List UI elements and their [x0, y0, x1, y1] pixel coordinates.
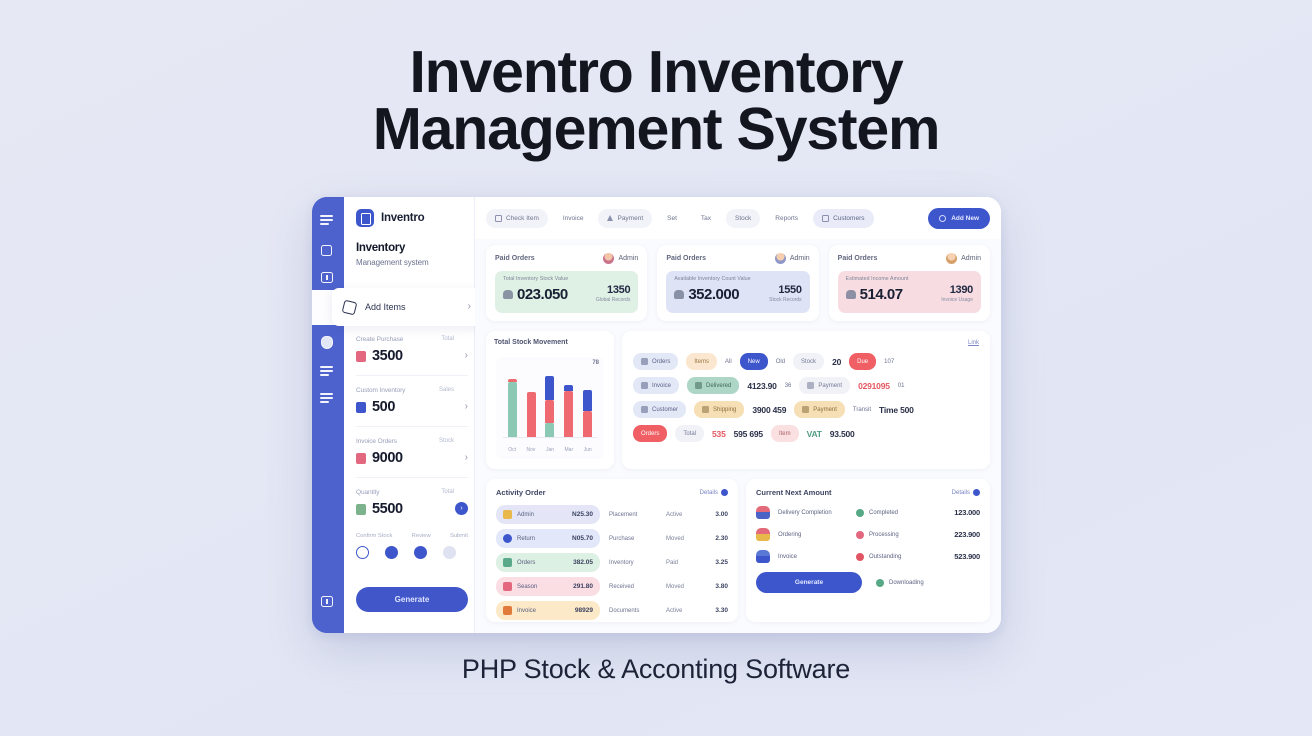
sidebar-stat-row[interactable]: Create Purchase Total 3500 › — [356, 334, 468, 376]
activity-col4: 2.30 — [715, 535, 728, 542]
step-label: Confirm Stock — [356, 533, 392, 539]
stat-card[interactable]: Paid Orders Admin Estimated Income Amoun… — [829, 245, 990, 321]
blue-icon — [503, 534, 512, 543]
plus-icon — [939, 215, 946, 222]
cell-text: All — [725, 359, 732, 365]
chart-bar-segment — [564, 385, 573, 391]
stat-subtitle: Total Inventory Stock Value — [503, 276, 630, 282]
chip-label: Items — [694, 359, 709, 365]
top-navbar: Check Item Invoice Payment Set Tax Stock… — [475, 197, 1001, 239]
nav-chip-label: Tax — [701, 215, 711, 222]
row-icon — [356, 402, 366, 413]
card-title: Current Next Amount — [756, 488, 832, 497]
stat-side-number: 1390 — [941, 284, 973, 296]
brand-name: Inventro — [381, 212, 424, 224]
data-chip[interactable]: Payment — [799, 377, 850, 394]
chevron-icon — [973, 489, 980, 496]
activity-amount: 98929 — [575, 607, 593, 614]
status-label: Outstanding — [869, 554, 901, 560]
chart-bar-group — [508, 373, 517, 437]
avatar — [756, 506, 770, 519]
stat-title: Paid Orders — [838, 255, 878, 262]
stat-side-number: 1550 — [769, 284, 802, 296]
stat-side-label: Stock Records — [769, 297, 802, 303]
sidebar-subtitle: Management system — [356, 258, 429, 267]
chip-label: Payment — [818, 383, 842, 389]
chart-bar — [508, 379, 517, 437]
list-icon[interactable] — [320, 364, 336, 378]
activity-row[interactable]: Season291.80ReceivedMoved3.80 — [496, 577, 728, 596]
row-caption: Quantity — [356, 489, 379, 496]
chart-x-label: Mar — [565, 447, 574, 453]
step-label: Review — [412, 533, 431, 539]
nav-chip-customers[interactable]: Customers — [813, 209, 873, 228]
nav-chip-label: Check Item — [506, 215, 539, 222]
data-chip[interactable]: Orders — [633, 353, 678, 370]
activity-name: Admin — [517, 512, 534, 518]
avatar — [775, 253, 786, 264]
status-icon — [876, 579, 884, 587]
add-items-label: Add Items — [365, 302, 406, 312]
sidebar-stat-row[interactable]: Invoice Orders Stock 9000 › — [356, 436, 468, 478]
cell-number: 595 695 — [734, 429, 763, 439]
stat-value-box: Total Inventory Stock Value 023.050 1350… — [495, 271, 638, 313]
activity-col2: Placement — [600, 512, 666, 518]
amount-row[interactable]: Delivery CompletionCompleted123.000 — [756, 506, 980, 519]
stat-title: Paid Orders — [495, 255, 535, 262]
chips-row: CustomerShipping3900 459PaymentTransitTi… — [633, 401, 979, 418]
activity-rows: AdminN25.30PlacementActive3.00ReturnN05.… — [496, 505, 728, 620]
row-caption: Custom Inventory — [356, 387, 405, 394]
amount-name: Delivery Completion — [778, 510, 856, 516]
activity-name: Invoice — [517, 608, 536, 614]
chart-bar-segment — [545, 376, 554, 400]
activity-row[interactable]: ReturnN05.70PurchaseMoved2.30 — [496, 529, 728, 548]
card-link[interactable]: Details — [700, 489, 728, 496]
cell-text: 107 — [884, 359, 894, 365]
chart-bar — [564, 385, 573, 437]
step-dot[interactable] — [385, 546, 398, 559]
chevron-icon — [721, 489, 728, 496]
chart-x-labels: OctNovJanMarJun — [503, 447, 597, 453]
chart-bar-group — [527, 373, 536, 437]
data-chip[interactable]: Item — [771, 425, 799, 442]
data-chip[interactable]: Payment — [794, 401, 845, 418]
stat-user-label: Admin — [790, 255, 810, 262]
nav-chip-reports[interactable]: Reports — [766, 209, 807, 228]
cell-number: 0291095 — [858, 381, 890, 391]
stat-title: Paid Orders — [666, 255, 706, 262]
chip-label: Orders — [652, 359, 670, 365]
activity-col3: Moved — [666, 584, 708, 590]
activity-row[interactable]: AdminN25.30PlacementActive3.00 — [496, 505, 728, 524]
status-icon — [856, 531, 864, 539]
chart-bar-group — [545, 373, 554, 437]
row-value: 500 — [372, 399, 395, 415]
people-icon — [503, 290, 513, 299]
activity-name: Orders — [517, 560, 535, 566]
row-caption-right: Total — [441, 336, 454, 342]
generate-button[interactable]: Generate — [756, 572, 862, 593]
brand[interactable]: Inventro — [356, 209, 424, 227]
card-link-label: Details — [700, 490, 718, 496]
stat-user: Admin — [775, 253, 810, 264]
chip-label: Customer — [652, 407, 678, 413]
chevron-right-icon[interactable]: › — [455, 502, 468, 515]
amount-value: 223.900 — [954, 530, 980, 539]
activity-amount: N25.30 — [572, 511, 593, 518]
status-label: Downloading — [889, 580, 924, 586]
cell-number: Time 500 — [879, 405, 914, 415]
status-badge: Processing — [856, 531, 940, 539]
nav-chip-tax[interactable]: Tax — [692, 209, 720, 228]
chart-bar-segment — [583, 411, 592, 437]
cell-number: VAT — [807, 429, 822, 439]
chevron-right-icon[interactable]: › — [465, 453, 468, 463]
amber-icon — [503, 510, 512, 519]
sidebar-title: Inventory — [356, 242, 405, 254]
nav-chip-label: Set — [667, 215, 677, 222]
cell-number: 20 — [832, 357, 841, 367]
list-alt-icon[interactable] — [320, 391, 336, 405]
data-chip[interactable]: New — [740, 353, 768, 370]
panel-icon[interactable] — [320, 270, 336, 284]
activity-amount: 382.05 — [573, 559, 593, 566]
chevron-right-icon[interactable]: › — [465, 402, 468, 412]
user-icon — [822, 215, 829, 222]
amount-row[interactable]: OrderingProcessing223.900 — [756, 528, 980, 541]
check-icon — [695, 382, 702, 389]
status-icon — [856, 509, 864, 517]
square-icon[interactable] — [320, 243, 336, 257]
chart-x-label: Nov — [527, 447, 536, 453]
step-dot[interactable] — [414, 546, 427, 559]
stat-card-row: Paid Orders Admin Total Inventory Stock … — [486, 245, 990, 321]
chart-title: Total Stock Movement — [494, 339, 606, 346]
cell-text: 36 — [785, 383, 792, 389]
activity-amount: N05.70 — [572, 535, 593, 542]
sidebar-stat-row[interactable]: Quantity Total 5500 › — [356, 487, 468, 529]
orders-chips-card: Link OrdersItemsAllNewOldStock20Due107In… — [622, 331, 990, 469]
stat-value-text: 023.050 — [517, 286, 568, 303]
nav-chip-label: Stock — [735, 215, 751, 222]
activity-pill: AdminN25.30 — [496, 505, 600, 524]
activity-pill: Orders382.05 — [496, 553, 600, 572]
activity-order-card: Activity Order Details AdminN25.30Placem… — [486, 479, 738, 622]
menu-icon[interactable] — [320, 213, 336, 227]
data-chip[interactable]: Due — [849, 353, 876, 370]
avatar — [603, 253, 614, 264]
row-icon — [356, 351, 366, 362]
chart-bars — [503, 373, 597, 438]
card-link[interactable]: Details — [952, 489, 980, 496]
chart-bar-segment — [564, 391, 573, 437]
chip-label: Due — [857, 359, 868, 365]
data-chip[interactable]: Orders — [633, 425, 667, 442]
row-value: 5500 — [372, 501, 403, 517]
row-icon — [356, 453, 366, 464]
stat-side-number: 1350 — [596, 284, 630, 296]
stat-side-label: Global Records — [596, 297, 630, 303]
page-title: Inventro Inventory Management System — [0, 44, 1312, 158]
avatar — [756, 528, 770, 541]
status-icon — [856, 553, 864, 561]
main-content: Check Item Invoice Payment Set Tax Stock… — [475, 197, 1001, 633]
chart-x-label: Jun — [584, 447, 592, 453]
status-label: Completed — [869, 510, 898, 516]
row-caption-right: Sales — [439, 387, 454, 393]
app-mockup: Inventro Inventory Management system Add… — [312, 197, 1001, 633]
stat-card[interactable]: Paid Orders Admin Available Inventory Co… — [657, 245, 818, 321]
data-chip[interactable]: Shipping — [694, 401, 744, 418]
avatar — [756, 550, 770, 563]
bug-icon[interactable] — [320, 336, 336, 350]
activity-col4: 3.25 — [715, 559, 728, 566]
row-caption-right: Stock — [439, 438, 454, 444]
add-new-button[interactable]: Add New — [928, 208, 990, 229]
amount-name: Ordering — [778, 532, 856, 538]
activity-row[interactable]: Invoice98929DocumentsActive3.30 — [496, 601, 728, 620]
nav-chip-invoice[interactable]: Invoice — [554, 209, 593, 228]
nav-chip-label: Customers — [833, 215, 864, 222]
activity-col2: Inventory — [600, 560, 666, 566]
step-indicator: Confirm Stock Review Submit — [356, 533, 468, 559]
activity-col3: Moved — [666, 536, 708, 542]
chip-label: Payment — [813, 407, 837, 413]
chips-row: InvoiceDelivered4123.9036Payment02910950… — [633, 377, 979, 394]
activity-col4: 3.00 — [715, 511, 728, 518]
row-caption: Invoice Orders — [356, 438, 397, 445]
row-icon — [356, 504, 366, 515]
stat-value-text: 514.07 — [860, 286, 903, 303]
activity-col4: 3.30 — [715, 607, 728, 614]
card-icon — [807, 382, 814, 389]
stat-value-box: Estimated Income Amount 514.07 1390 Invo… — [838, 271, 981, 313]
amount-rows: Delivery CompletionCompleted123.000Order… — [756, 506, 980, 593]
chart-bar-group — [564, 373, 573, 437]
pink-icon — [503, 582, 512, 591]
stat-user-label: Admin — [961, 255, 981, 262]
step-label: Submit — [450, 533, 468, 539]
nav-chip-label: Invoice — [563, 215, 584, 222]
amount-row-cta: GenerateDownloading — [756, 572, 980, 593]
amount-name: Invoice — [778, 554, 856, 560]
chip-label: Orders — [641, 431, 659, 437]
chart-bar-segment — [508, 379, 517, 382]
cell-number: 3900 459 — [752, 405, 786, 415]
page-caption: PHP Stock & Acconting Software — [0, 654, 1312, 685]
chips-row: OrdersTotal535595 695ItemVAT93.500 — [633, 425, 979, 442]
card-link-label: Details — [952, 490, 970, 496]
chart-bar-segment — [545, 400, 554, 423]
nav-chip-label: Reports — [775, 215, 798, 222]
chevron-right-icon: › — [468, 302, 471, 312]
activity-name: Return — [517, 536, 535, 542]
chip-label: New — [748, 359, 760, 365]
cell-text: Old — [776, 359, 785, 365]
stat-value: 514.07 — [846, 286, 903, 303]
chart-x-label: Jan — [546, 447, 554, 453]
green-icon — [503, 558, 512, 567]
lock-icon — [495, 215, 502, 222]
triangle-icon — [607, 215, 613, 221]
stat-side: 1350 Global Records — [596, 284, 630, 303]
pentagon-icon — [342, 299, 358, 315]
activity-col3: Paid — [666, 560, 708, 566]
stat-user: Admin — [603, 253, 638, 264]
chart-bar — [583, 390, 592, 437]
nav-chip-check-item[interactable]: Check Item — [486, 209, 548, 228]
chip-label: Delivered — [706, 383, 731, 389]
row-caption-right: Total — [441, 489, 454, 495]
stat-side: 1390 Invoice Usage — [941, 284, 973, 303]
cell-number: 4123.90 — [747, 381, 776, 391]
status-badge: Completed — [856, 509, 940, 517]
chart-bar-segment — [508, 382, 517, 437]
data-chip[interactable]: Invoice — [633, 377, 679, 394]
row-caption: Create Purchase — [356, 336, 403, 343]
stat-subtitle: Available Inventory Count Value — [674, 276, 801, 282]
activity-col2: Received — [600, 584, 666, 590]
status-label: Processing — [869, 532, 899, 538]
chart-bar-segment — [545, 423, 554, 437]
box-icon — [641, 358, 648, 365]
stat-user: Admin — [946, 253, 981, 264]
activity-amount: 291.80 — [573, 583, 593, 590]
stat-card[interactable]: Paid Orders Admin Total Inventory Stock … — [486, 245, 647, 321]
page-title-line2: Management System — [0, 101, 1312, 158]
chart-bar-group — [583, 373, 592, 437]
data-chip[interactable]: Items — [686, 353, 717, 370]
stat-value-text: 352.000 — [688, 286, 739, 303]
current-next-amount-card: Current Next Amount Details Delivery Com… — [746, 479, 990, 622]
stat-side-label: Invoice Usage — [941, 297, 973, 303]
chips-row: OrdersItemsAllNewOldStock20Due107 — [633, 353, 979, 370]
activity-col3: Active — [666, 512, 708, 518]
nav-chip-label: Payment — [617, 215, 643, 222]
status-badge: Outstanding — [856, 553, 940, 561]
sidebar: Inventro Inventory Management system Add… — [344, 197, 475, 633]
activity-row[interactable]: Orders382.05InventoryPaid3.25 — [496, 553, 728, 572]
chart-bar-segment — [527, 392, 536, 437]
stat-side: 1550 Stock Records — [769, 284, 802, 303]
sidebar-stat-row[interactable]: Custom Inventory Sales 500 › — [356, 385, 468, 427]
user-icon — [641, 406, 648, 413]
archive-icon[interactable] — [320, 594, 336, 608]
data-chip[interactable]: Stock — [793, 353, 824, 370]
people-icon — [846, 290, 856, 299]
avatar — [946, 253, 957, 264]
stat-value: 023.050 — [503, 286, 568, 303]
activity-pill: Invoice98929 — [496, 601, 600, 620]
activity-col2: Documents — [600, 608, 666, 614]
icon-rail — [312, 197, 344, 633]
data-chip[interactable]: Delivered — [687, 377, 739, 394]
chips-grid: OrdersItemsAllNewOldStock20Due107Invoice… — [633, 353, 979, 442]
data-chip[interactable]: Customer — [633, 401, 686, 418]
chip-label: Invoice — [652, 383, 671, 389]
activity-col3: Active — [666, 608, 708, 614]
activity-col2: Purchase — [600, 536, 666, 542]
nav-chip-set[interactable]: Set — [658, 209, 686, 228]
activity-pill: ReturnN05.70 — [496, 529, 600, 548]
amount-value: 523.900 — [954, 552, 980, 561]
chevron-right-icon[interactable]: › — [465, 351, 468, 361]
cell-number: 93.500 — [830, 429, 855, 439]
amount-value: 123.000 — [954, 508, 980, 517]
stat-user-label: Admin — [618, 255, 638, 262]
stat-value: 352.000 — [674, 286, 739, 303]
chart-bar-segment — [583, 390, 592, 412]
add-items-row[interactable]: Add Items › — [332, 288, 482, 326]
stock-movement-chart-card: Total Stock Movement 78 OctNovJanMarJun — [486, 331, 614, 469]
people-icon — [674, 290, 684, 299]
doc-icon — [641, 382, 648, 389]
card-icon — [802, 406, 809, 413]
stat-subtitle: Estimated Income Amount — [846, 276, 973, 282]
logo-icon — [356, 209, 374, 227]
nav-chip-stock[interactable]: Stock — [726, 209, 760, 228]
activity-pill: Season291.80 — [496, 577, 600, 596]
chart-annotation: 78 — [592, 360, 599, 366]
chart-x-label: Oct — [508, 447, 516, 453]
row-value: 3500 — [372, 348, 403, 364]
chart-bar — [545, 376, 554, 437]
chip-label: Item — [779, 431, 791, 437]
amount-row[interactable]: InvoiceOutstanding523.900 — [756, 550, 980, 563]
chart-plot: 78 OctNovJanMarJun — [496, 357, 604, 459]
row-value: 9000 — [372, 450, 403, 466]
chip-label: Stock — [801, 359, 816, 365]
activity-col4: 3.80 — [715, 583, 728, 590]
add-new-label: Add New — [951, 215, 979, 222]
activity-name: Season — [517, 584, 537, 590]
cell-number: 535 — [712, 429, 726, 439]
nav-chip-payment[interactable]: Payment — [598, 209, 652, 228]
chips-link[interactable]: Link — [633, 340, 979, 346]
cell-text: 01 — [898, 383, 905, 389]
orange-icon — [503, 606, 512, 615]
truck-icon — [702, 406, 709, 413]
chip-label: Total — [683, 431, 696, 437]
cell-text: Transit — [853, 407, 871, 413]
status-badge: Downloading — [876, 579, 960, 587]
data-chip[interactable]: Total — [675, 425, 704, 442]
generate-button[interactable]: Generate — [356, 587, 468, 612]
stat-value-box: Available Inventory Count Value 352.000 … — [666, 271, 809, 313]
step-dot[interactable] — [356, 546, 369, 559]
chart-bar — [527, 392, 536, 437]
step-dot[interactable] — [443, 546, 456, 559]
chip-label: Shipping — [713, 407, 736, 413]
card-title: Activity Order — [496, 488, 546, 497]
